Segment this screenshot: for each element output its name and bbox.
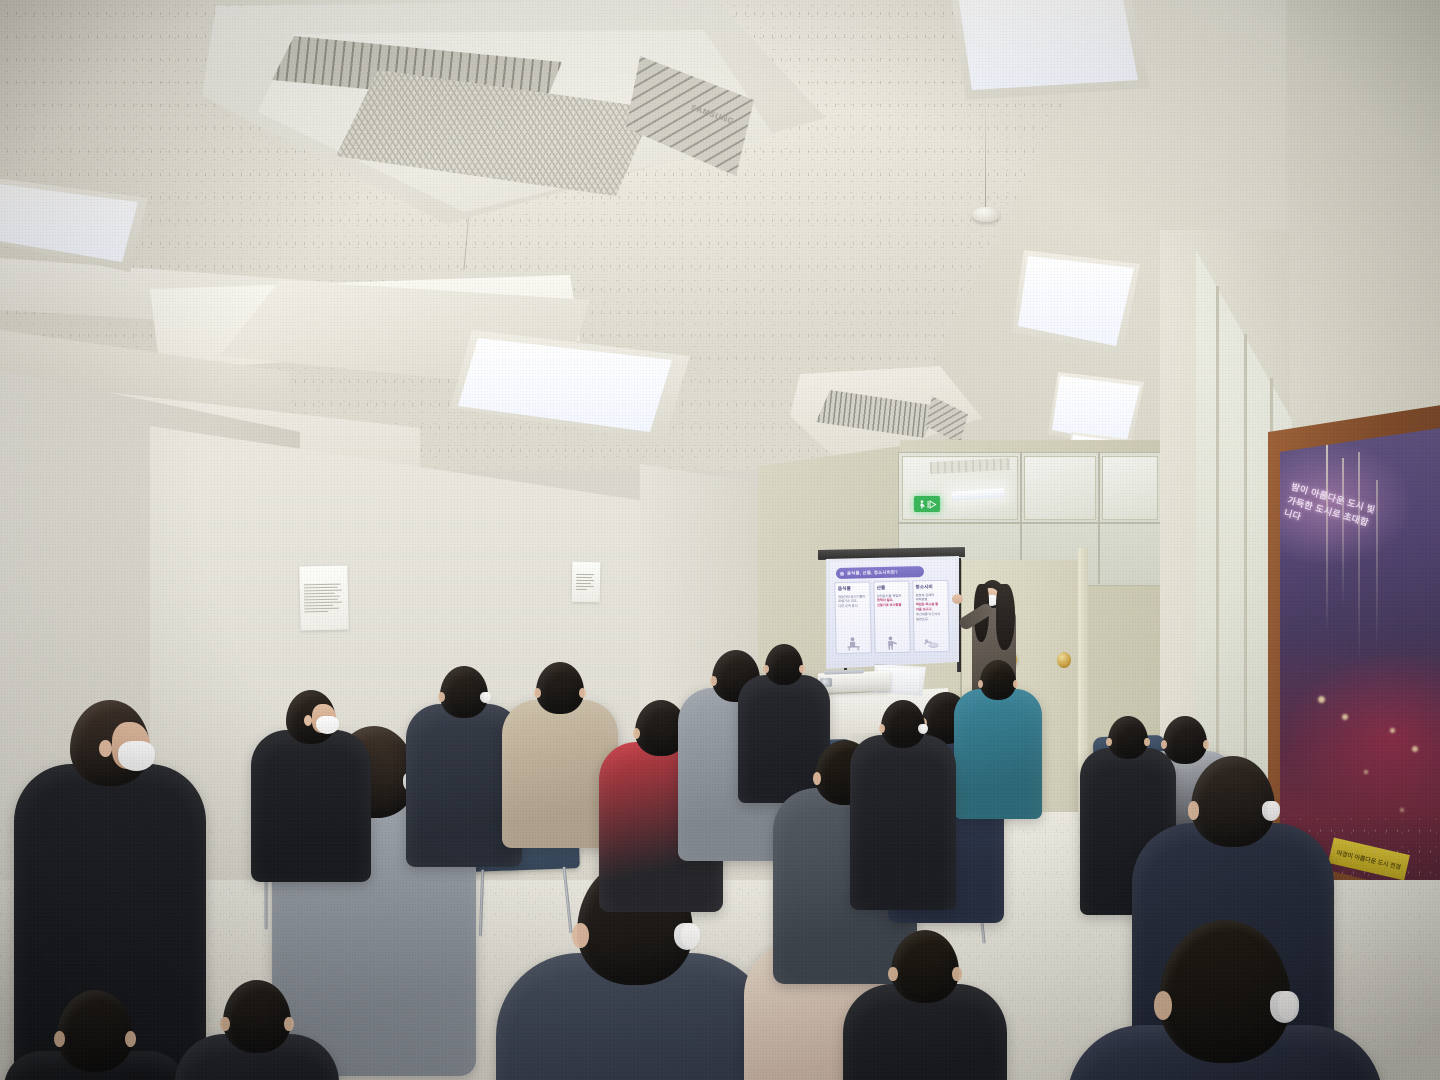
classroom-scene: SAMSUNG [0, 0, 1440, 1080]
head [1159, 920, 1291, 1063]
face-mask [480, 692, 491, 703]
ear [952, 967, 962, 982]
face-mask [316, 716, 339, 734]
face-mask [1270, 991, 1299, 1022]
attendee-midleft-dark [172, 980, 342, 1080]
face-mask [118, 741, 155, 770]
ear [799, 665, 804, 673]
ear [220, 1017, 230, 1032]
ear [888, 967, 898, 982]
attendee-row1-black-far [840, 930, 1010, 1080]
ear [1154, 991, 1172, 1020]
head [57, 990, 133, 1072]
ear [125, 1031, 136, 1047]
ear [763, 665, 768, 673]
head [1108, 716, 1148, 759]
ear [710, 676, 717, 686]
head [980, 660, 1017, 700]
face-mask [1262, 801, 1280, 821]
torso [850, 735, 956, 910]
ear [1203, 740, 1209, 750]
head [223, 980, 291, 1053]
attendee-row3-teal-jacket [952, 660, 1044, 810]
ear [284, 1017, 294, 1032]
ear [304, 715, 312, 726]
ear [579, 688, 586, 698]
ear [1013, 680, 1018, 688]
audience-layer [0, 0, 1440, 1080]
face-mask [674, 923, 700, 951]
ear [1106, 738, 1112, 747]
attendee-row3-ponytail-dark [848, 700, 958, 900]
torso [251, 730, 371, 882]
head [1191, 756, 1275, 847]
ear [572, 923, 588, 948]
ear [534, 688, 541, 698]
attendee-front-right-navy-puffer [1060, 920, 1390, 1080]
ear [1188, 801, 1200, 819]
ear [54, 1031, 65, 1047]
torso [954, 689, 1042, 818]
attendee-row2-black-hood-woman [248, 690, 373, 870]
head [881, 700, 925, 748]
head [891, 930, 959, 1003]
head [765, 644, 803, 685]
attendee-left-black-bottom [0, 990, 190, 1080]
face-mask [918, 724, 928, 734]
ear [99, 740, 112, 757]
ear [1144, 738, 1150, 747]
ear [438, 692, 445, 702]
head [536, 662, 584, 714]
